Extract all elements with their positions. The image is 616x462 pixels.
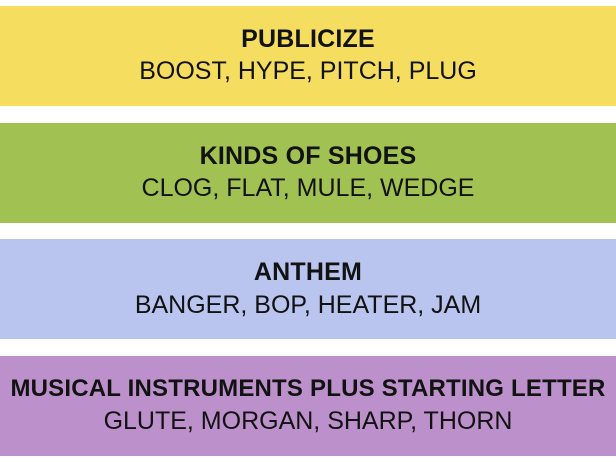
group-words-anthem: BANGER, BOP, HEATER, JAM — [135, 291, 481, 320]
group-title-kinds-of-shoes: KINDS OF SHOES — [200, 143, 417, 171]
group-title-publicize: PUBLICIZE — [241, 26, 375, 54]
group-row-anthem: ANTHEM BANGER, BOP, HEATER, JAM — [0, 239, 616, 339]
connections-solution-board: PUBLICIZE BOOST, HYPE, PITCH, PLUG KINDS… — [0, 0, 616, 462]
group-row-kinds-of-shoes: KINDS OF SHOES CLOG, FLAT, MULE, WEDGE — [0, 123, 616, 223]
group-words-publicize: BOOST, HYPE, PITCH, PLUG — [139, 57, 477, 86]
group-words-musical-instruments: GLUTE, MORGAN, SHARP, THORN — [104, 407, 513, 436]
group-row-publicize: PUBLICIZE BOOST, HYPE, PITCH, PLUG — [0, 6, 616, 106]
group-title-anthem: ANTHEM — [254, 259, 362, 287]
group-title-musical-instruments: MUSICAL INSTRUMENTS PLUS STARTING LETTER — [10, 376, 605, 402]
group-words-kinds-of-shoes: CLOG, FLAT, MULE, WEDGE — [142, 174, 475, 203]
group-row-musical-instruments: MUSICAL INSTRUMENTS PLUS STARTING LETTER… — [0, 356, 616, 456]
